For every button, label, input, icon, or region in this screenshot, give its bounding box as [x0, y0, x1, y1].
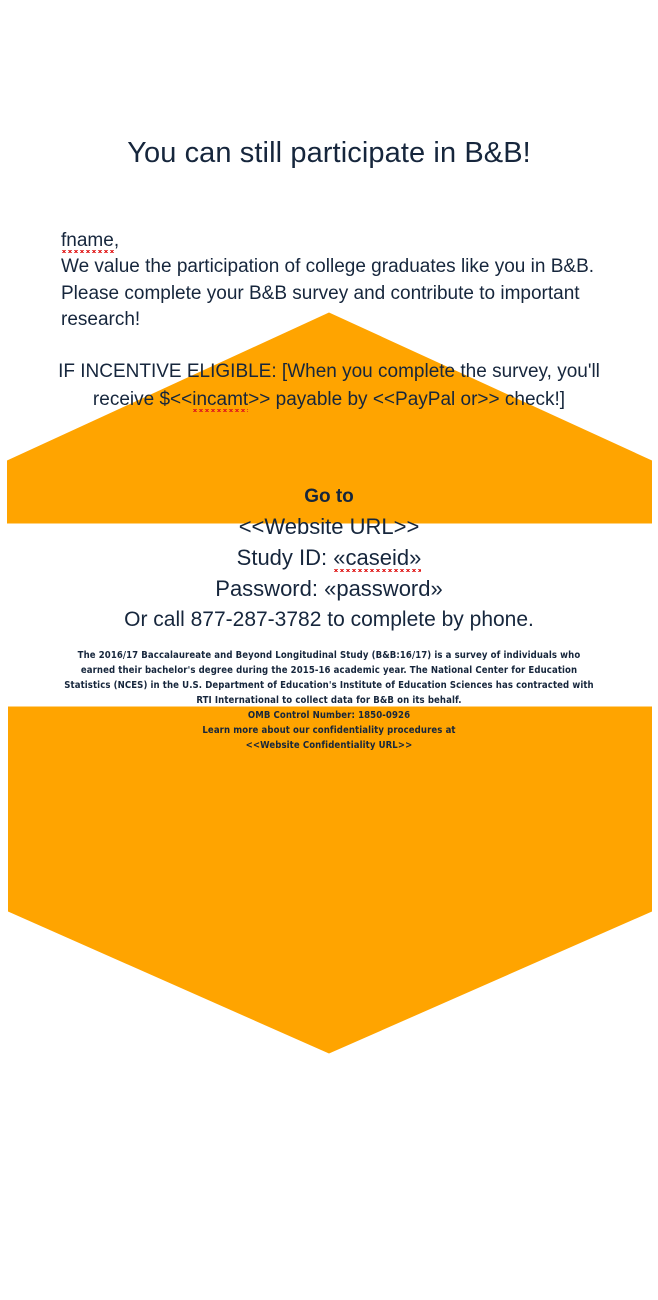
incentive-paragraph: IF INCENTIVE ELIGIBLE: [When you complet…: [49, 358, 609, 414]
fine-print-line-6: Learn more about our confidentiality pro…: [55, 723, 603, 738]
fine-print-line-2: earned their bachelor's degree during th…: [55, 663, 603, 678]
phone-line: Or call 877-287-3782 to complete by phon…: [0, 604, 658, 635]
fine-print-line-4: RTI International to collect data for B&…: [55, 693, 603, 708]
headline-participate: You can still participate in B&B!: [0, 132, 658, 174]
incentive-text-after: >> payable by <<PayPal or>> check!]: [248, 389, 565, 410]
salutation-comma: ,: [114, 230, 119, 251]
body-section: fname, We value the participation of col…: [0, 218, 658, 471]
omb-control-number: OMB Control Number: 1850-0926: [55, 708, 603, 723]
password-label: Password:: [215, 576, 324, 601]
incentive-amount-merge-field: incamt: [192, 389, 248, 412]
confidentiality-url-placeholder[interactable]: <<Website Confidentiality URL>>: [55, 738, 603, 753]
fine-print-line-3: Statistics (NCES) in the U.S. Department…: [55, 678, 603, 693]
call-to-action-block: Go to <<Website URL>> Study ID: «caseid»…: [0, 483, 658, 635]
salutation-line: fname,: [61, 228, 119, 254]
cta-heading: Go to: [0, 483, 658, 511]
study-id-line: Study ID: «caseid»: [0, 542, 658, 573]
intro-paragraph: We value the participation of college gr…: [61, 254, 601, 334]
password-line: Password: «password»: [0, 573, 658, 604]
fine-print-block: The 2016/17 Baccalaureate and Beyond Lon…: [55, 648, 603, 753]
top-banner-text: Just a reminder… You can still participa…: [0, 96, 658, 174]
study-id-merge-field: «caseid»: [333, 545, 421, 572]
website-url-placeholder[interactable]: <<Website URL>>: [0, 511, 658, 542]
bottom-panel: Go to <<Website URL>> Study ID: «caseid»…: [0, 471, 658, 829]
study-id-label: Study ID:: [237, 545, 334, 570]
top-banner: Just a reminder… You can still participa…: [0, 0, 658, 218]
password-merge-field: «password»: [324, 576, 443, 601]
flyer-page: Just a reminder… You can still participa…: [0, 0, 658, 829]
salutation-merge-field: fname: [61, 230, 114, 253]
headline-reminder: Just a reminder…: [0, 96, 658, 132]
fine-print-line-1: The 2016/17 Baccalaureate and Beyond Lon…: [55, 648, 603, 663]
